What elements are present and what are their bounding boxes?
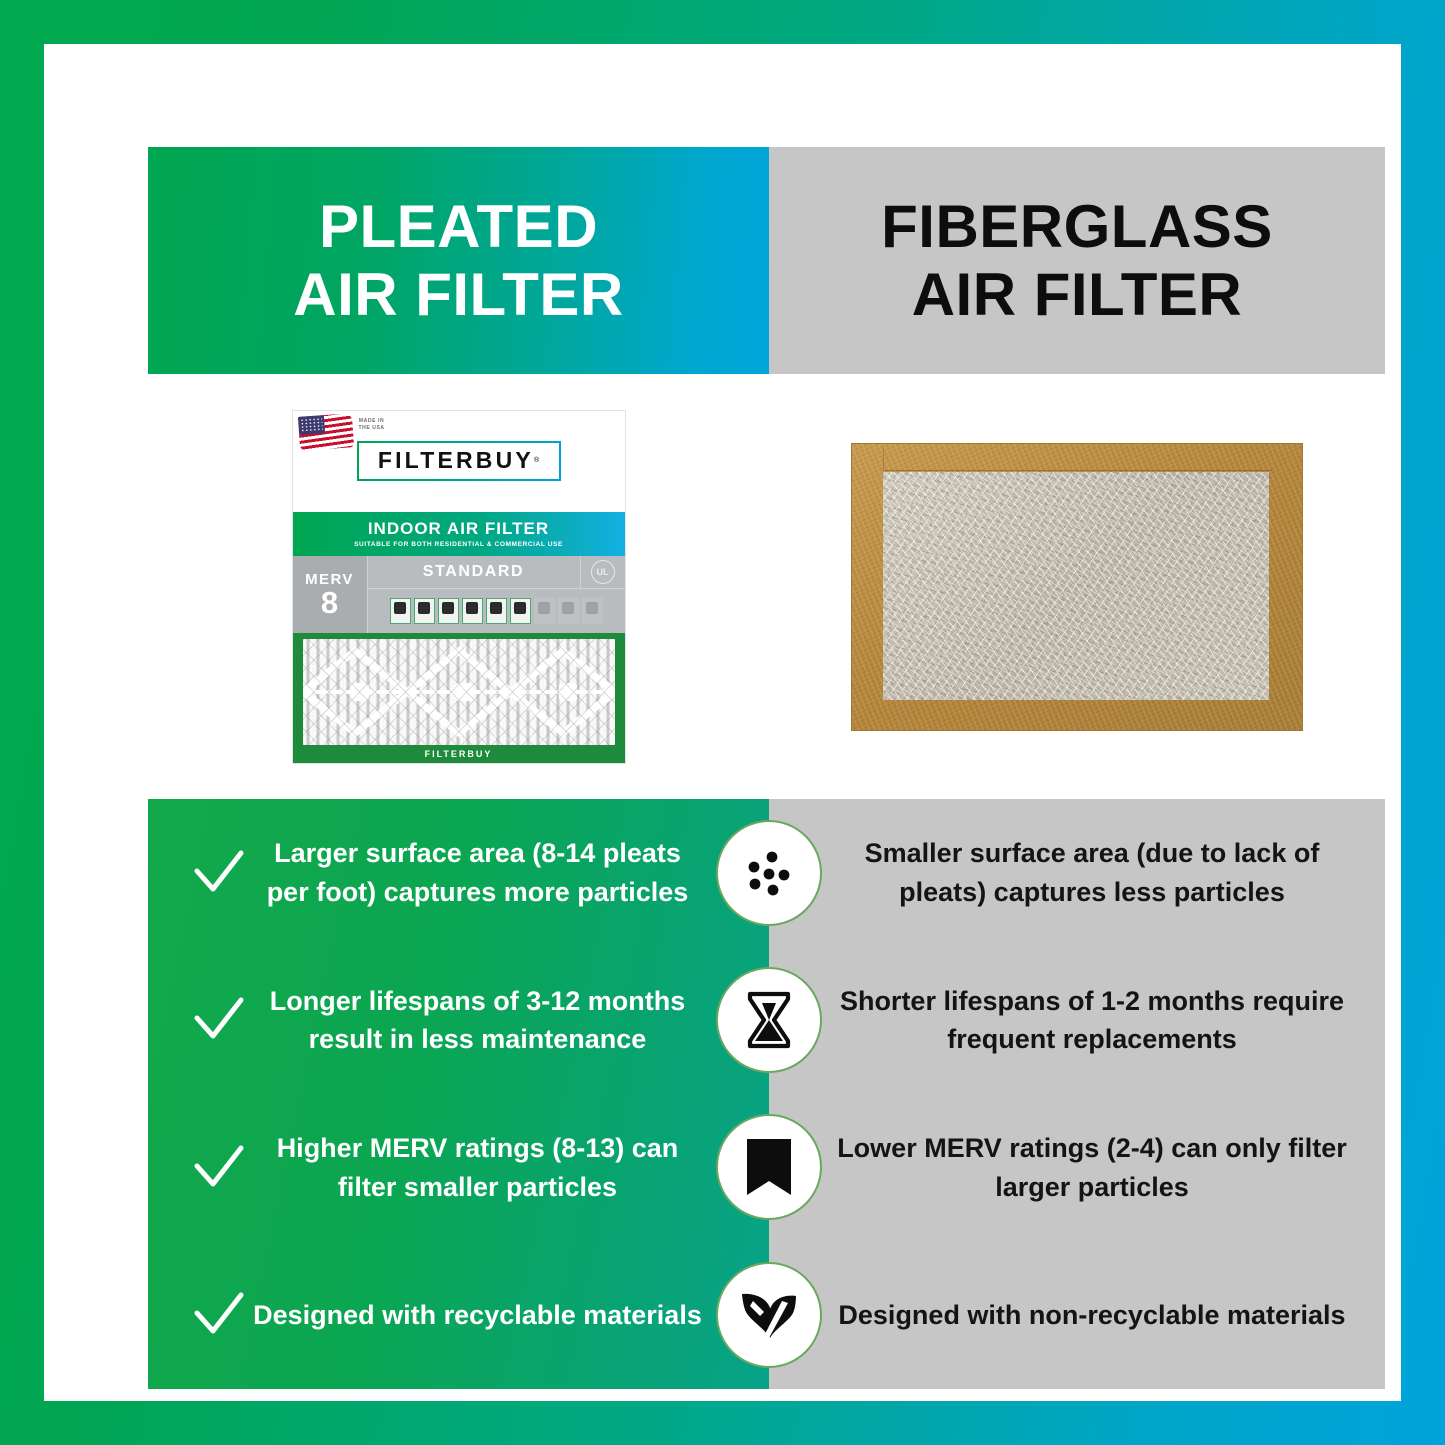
package-grade-row: STANDARD UL [368, 556, 625, 589]
capability-icon-smoke [534, 598, 555, 624]
pleat-media-texture [303, 639, 615, 745]
header-fiberglass: FIBERGLASS AIR FILTER [769, 147, 1385, 374]
bookmark-icon [716, 1114, 822, 1220]
capability-icon-dust [390, 598, 411, 624]
product-cell-pleated: MADE IN THE USA FILTERBUY® INDOOR AIR FI… [148, 374, 769, 799]
usa-flag-icon [297, 413, 353, 451]
made-in-usa-text: MADE IN THE USA [359, 418, 385, 433]
comparison-row: Larger surface area (8-14 pleats per foo… [148, 799, 769, 947]
leaf-icon [716, 1262, 822, 1368]
comparison-row: Longer lifespans of 3-12 months result i… [148, 947, 769, 1095]
pleat-support-mesh-icon [303, 639, 615, 745]
feature-text-fiberglass: Smaller surface area (due to lack of ple… [829, 834, 1355, 911]
feature-text-fiberglass: Lower MERV ratings (2-4) can only filter… [829, 1129, 1355, 1206]
package-banner: INDOOR AIR FILTER SUITABLE FOR BOTH RESI… [293, 512, 625, 556]
capability-icon-lint [414, 598, 435, 624]
ul-certification-icon: UL [580, 556, 625, 588]
infographic-frame: PLEATED AIR FILTER FIBERGLASS AIR FILTER [0, 0, 1445, 1445]
package-pleat-photo: FILTERBUY [293, 633, 625, 763]
comparison-row: Higher MERV ratings (8-13) can filter sm… [148, 1094, 769, 1242]
capability-icon-dustmites [486, 598, 507, 624]
package-footer-brand: FILTERBUY [293, 745, 625, 763]
comparison-column-fiberglass: Smaller surface area (due to lack of ple… [769, 799, 1385, 1389]
medallion-bookmark [716, 1114, 822, 1220]
header-pleated-line1: PLEATED [319, 193, 598, 260]
comparison-row: Smaller surface area (due to lack of ple… [769, 799, 1385, 947]
feature-text-pleated: Larger surface area (8-14 pleats per foo… [250, 834, 705, 911]
package-spec-section: MERV 8 STANDARD UL [293, 556, 625, 633]
medallion-particles [716, 820, 822, 926]
fiberglass-media-texture [883, 472, 1269, 700]
trademark-symbol: ® [534, 457, 539, 464]
feature-text-pleated: Longer lifespans of 3-12 months result i… [250, 982, 705, 1059]
filtration-capability-icons [368, 589, 625, 633]
comparison-canvas: PLEATED AIR FILTER FIBERGLASS AIR FILTER [148, 147, 1385, 1389]
product-image-row: MADE IN THE USA FILTERBUY® INDOOR AIR FI… [148, 374, 1385, 799]
comparison-row: Lower MERV ratings (2-4) can only filter… [769, 1094, 1385, 1242]
ul-mark-text: UL [591, 560, 615, 584]
infographic-inner-card: PLEATED AIR FILTER FIBERGLASS AIR FILTER [44, 44, 1401, 1401]
package-top-section: MADE IN THE USA FILTERBUY® [293, 411, 625, 512]
product-cell-fiberglass [769, 374, 1385, 799]
package-banner-title: INDOOR AIR FILTER [368, 519, 549, 539]
package-spec-right: STANDARD UL [368, 556, 625, 633]
particles-icon [716, 820, 822, 926]
hourglass-icon [716, 967, 822, 1073]
header-row: PLEATED AIR FILTER FIBERGLASS AIR FILTER [148, 147, 1385, 374]
comparison-row: Designed with recyclable materials [148, 1242, 769, 1390]
feature-text-fiberglass: Shorter lifespans of 1-2 months require … [829, 982, 1355, 1059]
feature-text-pleated: Higher MERV ratings (8-13) can filter sm… [250, 1129, 705, 1206]
checkmark-icon [188, 849, 250, 897]
checkmark-icon [188, 996, 250, 1044]
merv-badge: MERV 8 [293, 556, 368, 633]
capability-icon-mold [438, 598, 459, 624]
medallion-leaf [716, 1262, 822, 1368]
comparison-row: Designed with non-recyclable materials [769, 1242, 1385, 1390]
merv-value: 8 [321, 588, 338, 617]
package-grade-label: STANDARD [368, 556, 580, 588]
capability-icon-bacteria [558, 598, 579, 624]
comparison-column-pleated: Larger surface area (8-14 pleats per foo… [148, 799, 769, 1389]
comparison-row: Shorter lifespans of 1-2 months require … [769, 947, 1385, 1095]
header-pleated: PLEATED AIR FILTER [148, 147, 769, 374]
package-brand-logo: FILTERBUY® [357, 441, 561, 481]
checkmark-icon [188, 1291, 250, 1339]
header-fiberglass-line2: AIR FILTER [912, 261, 1243, 328]
fiberglass-filter-image [852, 444, 1302, 730]
feature-text-pleated: Designed with recyclable materials [250, 1296, 705, 1334]
package-banner-subtitle: SUITABLE FOR BOTH RESIDENTIAL & COMMERCI… [354, 541, 563, 548]
medallion-hourglass [716, 967, 822, 1073]
capability-icon-virus [582, 598, 603, 624]
header-pleated-line2: AIR FILTER [293, 261, 624, 328]
header-fiberglass-line1: FIBERGLASS [881, 193, 1273, 260]
feature-text-fiberglass: Designed with non-recyclable materials [829, 1296, 1355, 1334]
capability-icon-pet-dander [510, 598, 531, 624]
capability-icon-pollen [462, 598, 483, 624]
pleated-filter-package-image: MADE IN THE USA FILTERBUY® INDOOR AIR FI… [293, 411, 625, 763]
checkmark-icon [188, 1144, 250, 1192]
